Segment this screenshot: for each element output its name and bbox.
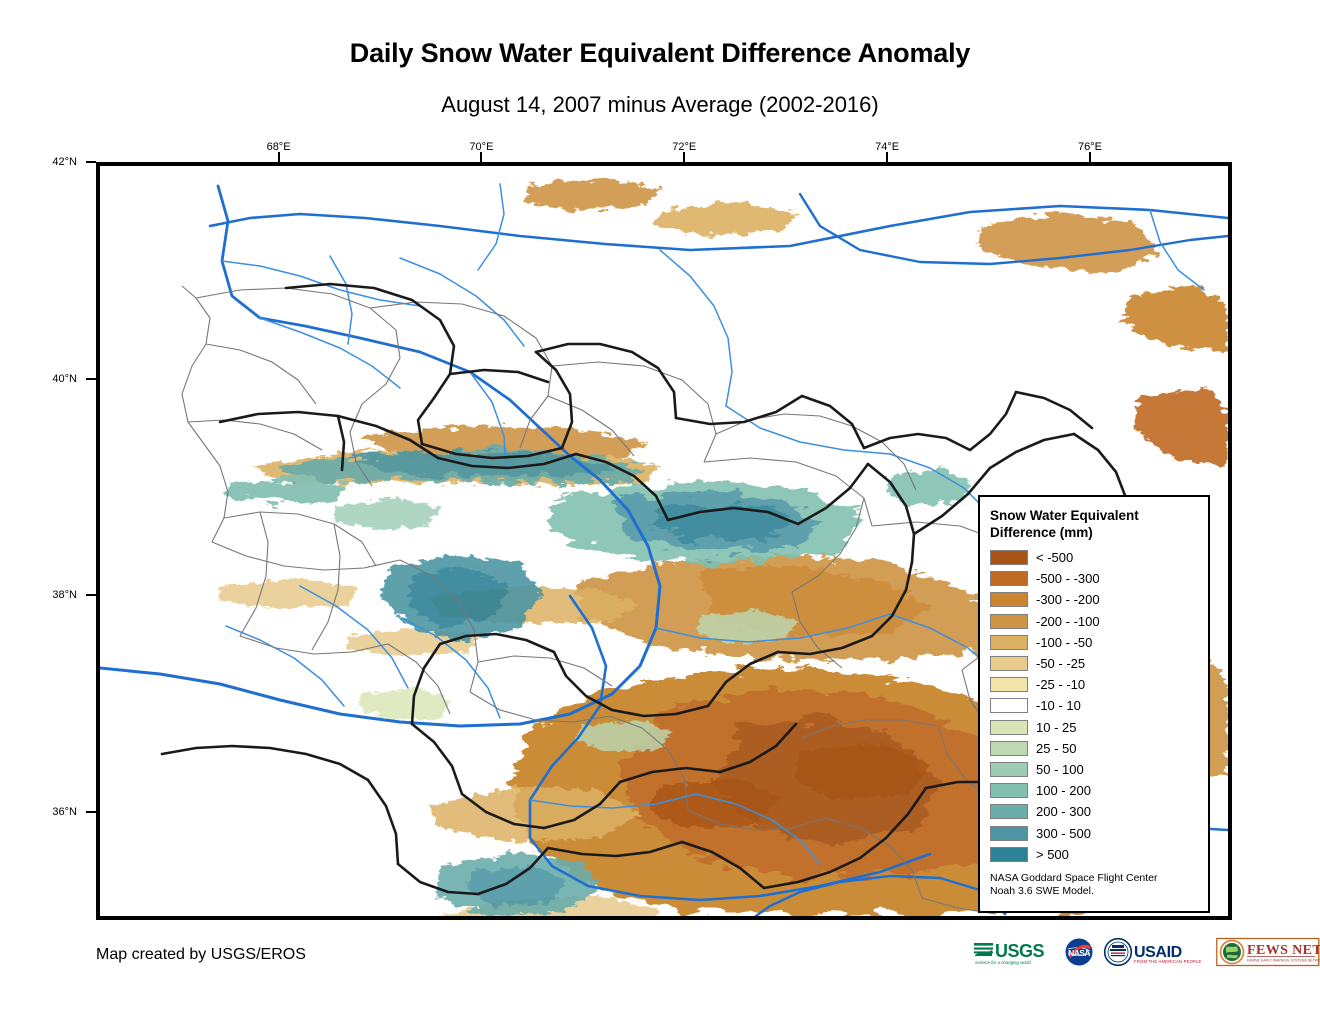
legend-swatch: [990, 656, 1028, 671]
latitude-tick-label: 38°N: [52, 589, 77, 601]
svg-text:FROM THE AMERICAN PEOPLE: FROM THE AMERICAN PEOPLE: [1134, 959, 1202, 964]
svg-text:science for a changing world: science for a changing world: [975, 960, 1031, 965]
legend-swatch: [990, 762, 1028, 777]
legend-swatch: [990, 826, 1028, 841]
legend-swatch: [990, 592, 1028, 607]
legend-swatch: [990, 698, 1028, 713]
latitude-tick-mark: [86, 161, 96, 163]
legend-row: -10 - 10: [990, 695, 1208, 716]
usgs-logo: USGS science for a changing world: [973, 935, 1055, 969]
legend-source-note: NASA Goddard Space Flight Center Noah 3.…: [990, 872, 1208, 898]
fewsnet-logo: FEWS NET FAMINE EARLY WARNING SYSTEMS NE…: [1216, 935, 1320, 969]
svg-text:FEWS NET: FEWS NET: [1247, 943, 1320, 958]
legend-swatch: [990, 571, 1028, 586]
legend-swatch: [990, 550, 1028, 565]
nasa-logo: NASA: [1064, 935, 1094, 969]
legend-row: 100 - 200: [990, 780, 1208, 801]
legend-swatch: [990, 804, 1028, 819]
legend-row: 200 - 300: [990, 801, 1208, 822]
legend-note-line2: Noah 3.6 SWE Model.: [990, 885, 1208, 898]
usgs-logo-mark: USGS science for a changing world: [973, 937, 1055, 967]
svg-text:NASA: NASA: [1068, 948, 1090, 958]
usaid-logo-mark: USAID FROM THE AMERICAN PEOPLE: [1103, 937, 1207, 967]
legend-row: 300 - 500: [990, 822, 1208, 843]
legend-class-list: < -500-500 - -300-300 - -200-200 - -100-…: [990, 547, 1208, 865]
legend-label: -25 - -10: [1036, 677, 1085, 692]
longitude-tick-mark: [683, 152, 685, 162]
longitude-tick-mark: [886, 152, 888, 162]
latitude-tick-label: 42°N: [52, 156, 77, 168]
latitude-tick-mark: [86, 811, 96, 813]
fewsnet-logo-mark: FEWS NET FAMINE EARLY WARNING SYSTEMS NE…: [1216, 937, 1320, 967]
latitude-tick-label: 36°N: [52, 806, 77, 818]
legend-row: -100 - -50: [990, 632, 1208, 653]
legend-label: > 500: [1036, 847, 1069, 862]
latitude-tick-label: 40°N: [52, 373, 77, 385]
legend-row: -300 - -200: [990, 589, 1208, 610]
legend-note-line1: NASA Goddard Space Flight Center: [990, 872, 1208, 885]
longitude-tick-mark: [278, 152, 280, 162]
legend-swatch: [990, 847, 1028, 862]
svg-text:FAMINE EARLY WARNING SYSTEMS N: FAMINE EARLY WARNING SYSTEMS NETWORK: [1247, 959, 1320, 963]
legend-label: 200 - 300: [1036, 804, 1091, 819]
legend-title-line2: Difference (mm): [990, 525, 1093, 540]
legend-row: -25 - -10: [990, 674, 1208, 695]
legend-label: 300 - 500: [1036, 826, 1091, 841]
legend-row: 25 - 50: [990, 738, 1208, 759]
legend-label: -300 - -200: [1036, 592, 1100, 607]
latitude-tick-mark: [86, 378, 96, 380]
legend-swatch: [990, 635, 1028, 650]
legend-row: 50 - 100: [990, 759, 1208, 780]
legend-label: 25 - 50: [1036, 741, 1076, 756]
longitude-tick-mark: [1089, 152, 1091, 162]
legend-title: Snow Water Equivalent Difference (mm): [990, 507, 1190, 541]
legend-swatch: [990, 614, 1028, 629]
legend-label: -500 - -300: [1036, 571, 1100, 586]
legend-label: 100 - 200: [1036, 783, 1091, 798]
legend-label: 50 - 100: [1036, 762, 1084, 777]
page-subtitle: August 14, 2007 minus Average (2002-2016…: [0, 92, 1320, 118]
legend-row: -200 - -100: [990, 611, 1208, 632]
legend-row: > 500: [990, 844, 1208, 865]
map-credit: Map created by USGS/EROS: [96, 946, 306, 964]
svg-text:USGS: USGS: [995, 941, 1045, 961]
legend-label: -200 - -100: [1036, 614, 1100, 629]
legend-label: -100 - -50: [1036, 635, 1092, 650]
legend-title-line1: Snow Water Equivalent: [990, 508, 1139, 523]
map-legend: Snow Water Equivalent Difference (mm) < …: [978, 495, 1210, 913]
legend-swatch: [990, 677, 1028, 692]
legend-swatch: [990, 783, 1028, 798]
legend-swatch: [990, 741, 1028, 756]
legend-row: 10 - 25: [990, 717, 1208, 738]
nasa-logo-mark: NASA: [1064, 937, 1094, 967]
legend-row: -500 - -300: [990, 568, 1208, 589]
page-title: Daily Snow Water Equivalent Difference A…: [0, 38, 1320, 69]
legend-label: -10 - 10: [1036, 698, 1081, 713]
legend-label: 10 - 25: [1036, 720, 1076, 735]
latitude-tick-mark: [86, 594, 96, 596]
legend-row: < -500: [990, 547, 1208, 568]
legend-label: -50 - -25: [1036, 656, 1085, 671]
legend-label: < -500: [1036, 550, 1073, 565]
legend-row: -50 - -25: [990, 653, 1208, 674]
longitude-tick-mark: [480, 152, 482, 162]
usaid-logo: USAID FROM THE AMERICAN PEOPLE: [1103, 935, 1207, 969]
legend-swatch: [990, 720, 1028, 735]
agency-logos: USGS science for a changing world NASA U…: [973, 934, 1320, 970]
